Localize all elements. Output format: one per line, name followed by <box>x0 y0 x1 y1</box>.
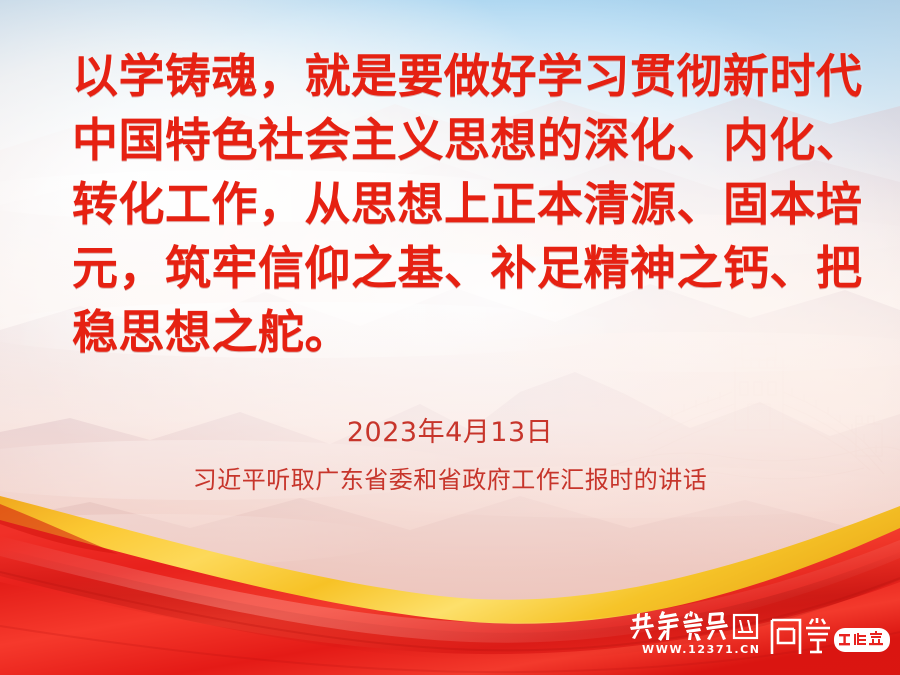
quote-line: 转化工作，从思想上正本清源、固本培 <box>72 172 842 236</box>
speech-source: 习近平听取广东省委和省政府工作汇报时的讲话 <box>0 462 900 498</box>
quote-line: 元，筑牢信仰之基、补足精神之钙、把 <box>72 236 842 300</box>
brand-logo[interactable]: WWW.12371.CN <box>628 608 890 664</box>
speech-date: 2023年4月13日 <box>0 414 900 452</box>
quote-line: 中国特色社会主义思想的深化、内化、 <box>72 108 842 172</box>
poster-canvas: 以学铸魂，就是要做好学习贯彻新时代 中国特色社会主义思想的深化、内化、 转化工作… <box>0 0 900 675</box>
brand-logo-right <box>766 614 892 658</box>
brand-url-text: WWW.12371.CN <box>642 643 761 656</box>
studio-logo-icon <box>766 614 892 658</box>
brand-name-calligraphy-icon <box>628 610 760 644</box>
quote-line: 稳思想之舵。 <box>72 300 842 364</box>
attribution-block: 2023年4月13日 习近平听取广东省委和省政府工作汇报时的讲话 <box>0 414 900 498</box>
quote-line: 以学铸魂，就是要做好学习贯彻新时代 <box>72 44 842 108</box>
brand-logo-left: WWW.12371.CN <box>628 610 760 662</box>
quote-block: 以学铸魂，就是要做好学习贯彻新时代 中国特色社会主义思想的深化、内化、 转化工作… <box>72 44 842 364</box>
